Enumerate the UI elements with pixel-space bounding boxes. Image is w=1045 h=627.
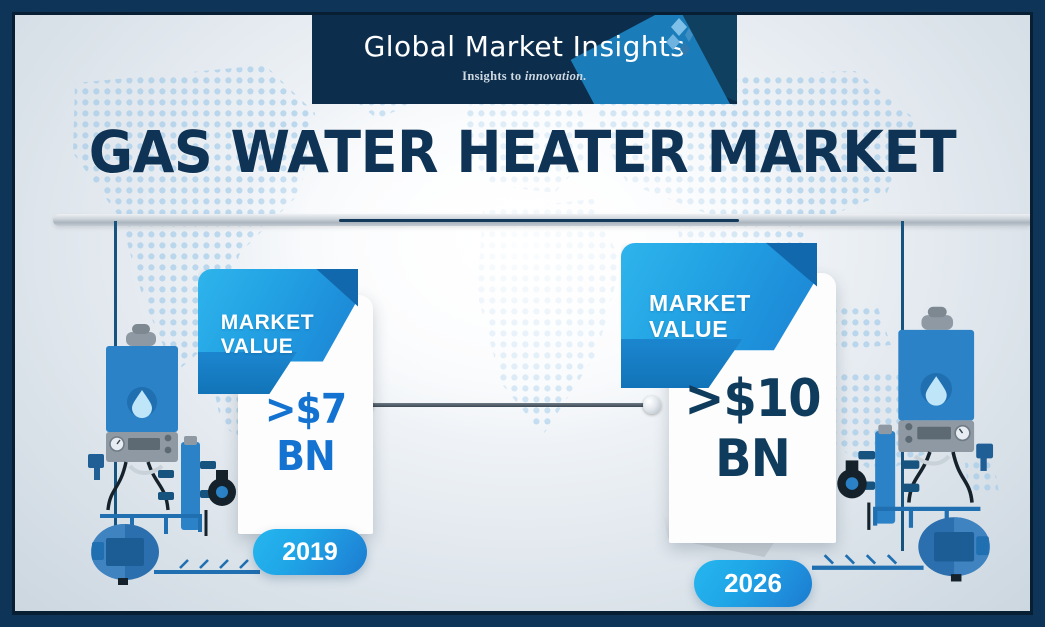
ribbon-label-line1: MARKET [221, 311, 314, 334]
brand-tagline-emphasis: innovation. [525, 69, 587, 83]
market-value-text: >$7 BN [243, 389, 367, 477]
market-value-line2: BN [676, 433, 830, 485]
ribbon-label-line1: MARKET [649, 290, 751, 316]
year-badge-2019[interactable]: 2019 [253, 529, 367, 575]
page-title: GAS WATER HEATER MARKET [51, 118, 995, 186]
brand-header-banner: Global Market Insights Insights to innov… [312, 15, 737, 104]
title-underline [339, 219, 739, 222]
market-value-text: >$10 BN [676, 373, 830, 485]
brand-tagline: Insights to innovation. [312, 69, 737, 84]
ribbon-label-line2: VALUE [221, 335, 294, 358]
diamond-cluster-icon [659, 18, 693, 62]
market-value-card-2019[interactable]: MARKET VALUE >$7 BN [198, 269, 373, 534]
ribbon-label: MARKET VALUE [221, 311, 314, 358]
infographic-canvas: GAS WATER HEATER MARKET MARKET VALUE >$7… [0, 0, 1045, 627]
market-value-line2: BN [243, 436, 367, 477]
market-value-line1: >$7 [265, 385, 346, 433]
market-value-card-2026[interactable]: MARKET VALUE >$10 BN [621, 243, 836, 543]
gas-water-heater-right [812, 302, 1012, 582]
card-connector-line [362, 403, 651, 407]
market-value-line1: >$10 [684, 369, 820, 429]
brand-tagline-prefix: Insights to [462, 69, 525, 83]
ribbon-label: MARKET VALUE [649, 291, 751, 343]
stage: GAS WATER HEATER MARKET MARKET VALUE >$7… [15, 15, 1030, 611]
ribbon-label-line2: VALUE [649, 316, 728, 342]
year-badge-2026[interactable]: 2026 [694, 560, 812, 607]
